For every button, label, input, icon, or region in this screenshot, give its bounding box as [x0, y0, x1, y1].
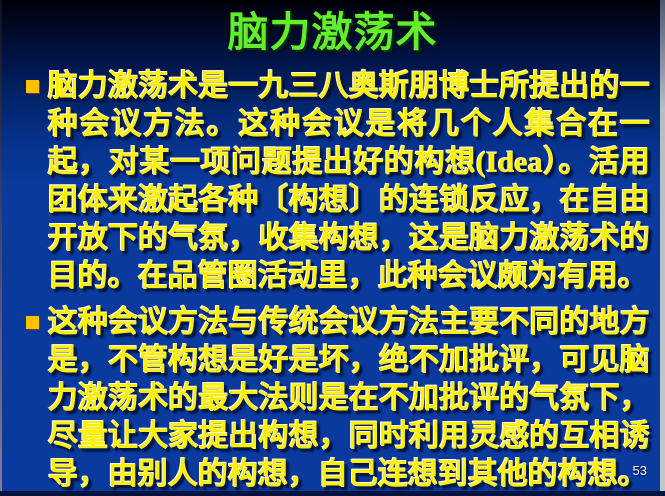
bullet-item-text: 这种会议方法与传统会议方法主要不同的地方是，不管构想是好是坏，绝不加批评，可见脑… [48, 304, 650, 494]
slide-page-number: 53 [633, 463, 647, 478]
slide-right-border [660, 0, 665, 496]
square-bullet-icon [26, 80, 39, 93]
square-bullet-icon [26, 316, 39, 329]
slide-left-border [0, 0, 2, 496]
slide-body: 脑力激荡术是一九三八奥斯朋博士所提出的一种会议方法。这种会议是将几个人集合在一起… [20, 68, 650, 496]
slide-title: 脑力激荡术 [0, 6, 665, 58]
presentation-slide: 脑力激荡术 脑力激荡术是一九三八奥斯朋博士所提出的一种会议方法。这种会议是将几个… [0, 0, 665, 496]
bullet-item-text: 脑力激荡术是一九三八奥斯朋博士所提出的一种会议方法。这种会议是将几个人集合在一起… [48, 68, 650, 296]
bullet-list-item: 脑力激荡术是一九三八奥斯朋博士所提出的一种会议方法。这种会议是将几个人集合在一起… [20, 68, 650, 296]
bullet-list-item: 这种会议方法与传统会议方法主要不同的地方是，不管构想是好是坏，绝不加批评，可见脑… [20, 304, 650, 494]
